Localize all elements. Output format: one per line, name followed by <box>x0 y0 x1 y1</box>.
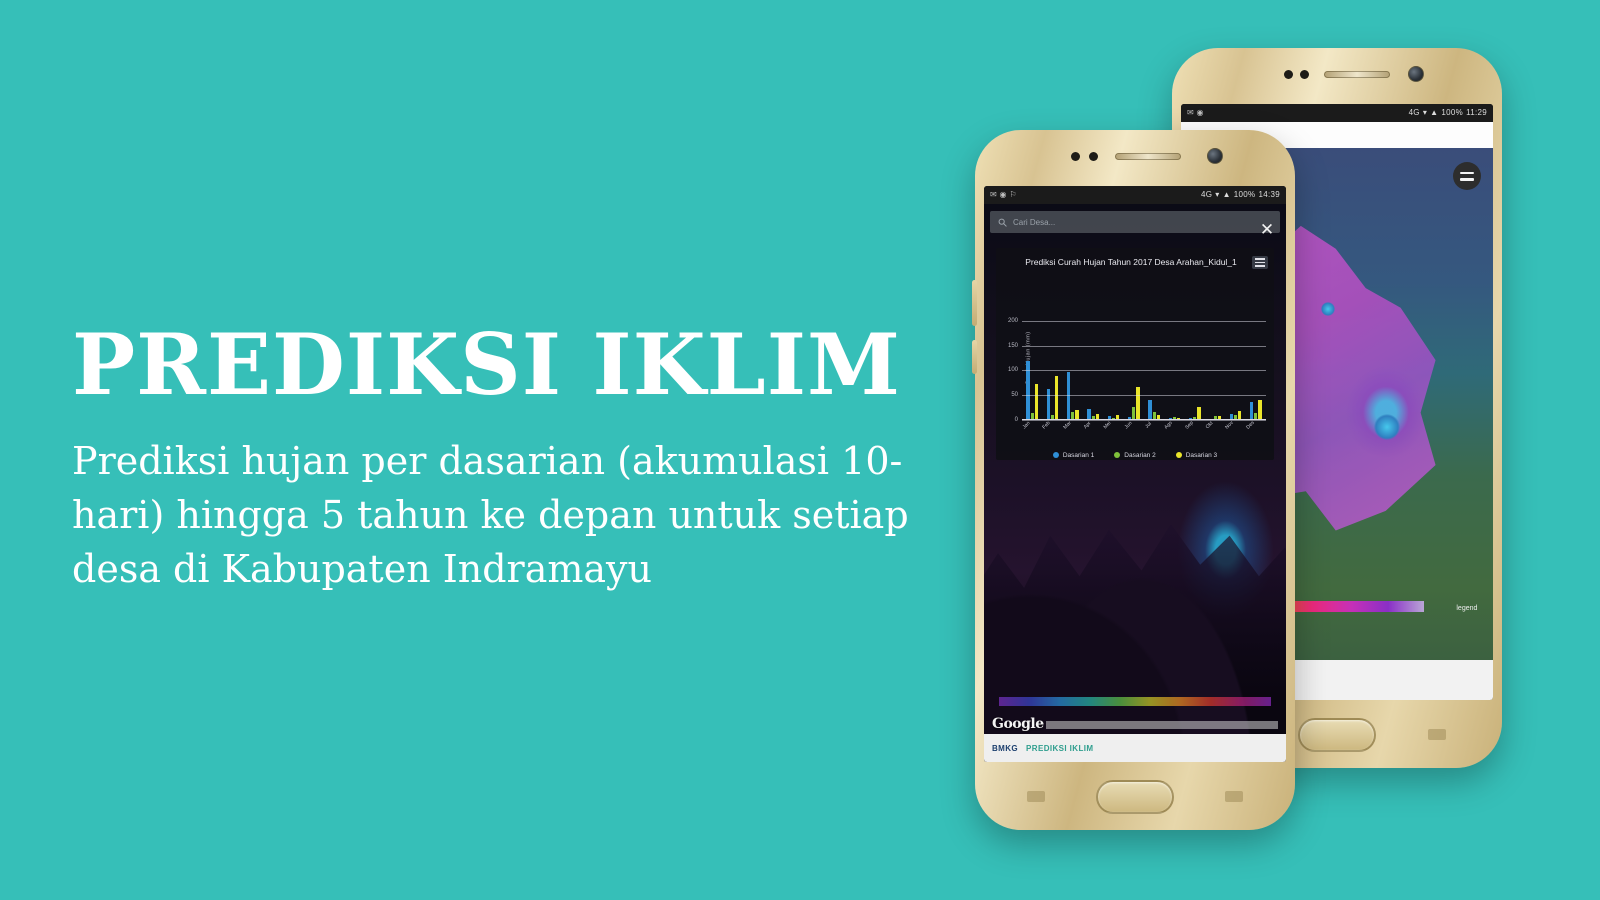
front-camera-icon <box>1207 148 1223 164</box>
chart-legend-swatch <box>1114 452 1120 458</box>
battery-level: 100% <box>1441 109 1463 117</box>
status-bar-front: ✉ ◉ ⚐ 4G ▾ ▲ 100% 14:39 <box>984 186 1286 204</box>
notification-icons: ✉ ◉ <box>1187 109 1204 117</box>
chart-legend-swatch <box>1053 452 1059 458</box>
chart-y-tick-label: 0 <box>1015 417 1018 423</box>
chart-legend-label: Dasarian 2 <box>1124 452 1155 459</box>
chart-gridline <box>1022 346 1266 347</box>
chart-bar-group <box>1225 296 1245 420</box>
chart-x-tick-label: Des <box>1241 416 1271 446</box>
wifi-icon: ▾ <box>1215 191 1219 199</box>
chart-bar-group <box>1042 296 1062 420</box>
rainfall-chart-panel: Prediksi Curah Hujan Tahun 2017 Desa Ara… <box>996 248 1274 460</box>
chart-bar-group <box>1022 296 1042 420</box>
chart-legend-item[interactable]: Dasarian 3 <box>1176 452 1217 459</box>
earpiece-speaker <box>1324 71 1390 78</box>
chart-y-tick-label: 100 <box>1008 367 1018 373</box>
chart-legend-swatch <box>1176 452 1182 458</box>
chart-bar-group <box>1246 296 1266 420</box>
chart-bar[interactable] <box>1258 400 1261 420</box>
chart-bar-group <box>1124 296 1144 420</box>
chart-gridline <box>1022 370 1266 371</box>
chart-context-menu-icon[interactable] <box>1252 256 1268 269</box>
proximity-sensor-icon <box>1071 152 1080 161</box>
status-bar-front-right: 4G ▾ ▲ 100% 14:39 <box>1201 191 1280 199</box>
search-icon <box>998 218 1007 227</box>
chart-bar-group <box>1144 296 1164 420</box>
network-icon: 4G <box>1409 109 1420 117</box>
chart-y-tick-label: 150 <box>1008 343 1018 349</box>
page-title: PREDIKSI IKLIM <box>72 325 952 405</box>
status-bar-front-left: ✉ ◉ ⚐ <box>990 191 1017 199</box>
hamburger-menu-icon[interactable] <box>1453 162 1481 190</box>
chart-bar[interactable] <box>1047 389 1050 420</box>
light-sensor-icon <box>1089 152 1098 161</box>
phone-front-screen: ✉ ◉ ⚐ 4G ▾ ▲ 100% 14:39 Google <box>984 186 1286 762</box>
chart-legend-item[interactable]: Dasarian 1 <box>1053 452 1094 459</box>
chart-gridline <box>1022 321 1266 322</box>
hotspot-marker-north[interactable] <box>1321 302 1335 316</box>
chart-bar-group <box>1083 296 1103 420</box>
map-color-legend <box>999 697 1271 706</box>
chart-legend-label: Dasarian 3 <box>1186 452 1217 459</box>
volume-button[interactable] <box>972 280 977 326</box>
app-bottom-bar: BMKG PREDIKSI IKLIM <box>984 734 1286 762</box>
earpiece-speaker <box>1115 153 1181 160</box>
promo-subtitle: Prediksi hujan per dasarian (akumulasi 1… <box>72 435 922 597</box>
chart-bar-group <box>1185 296 1205 420</box>
chart-legend: Dasarian 1Dasarian 2Dasarian 3 <box>996 448 1274 462</box>
status-bar-back: ✉ ◉ 4G ▾ ▲ 100% 11:29 <box>1181 104 1493 122</box>
light-sensor-icon <box>1300 70 1309 79</box>
chart-bar-group <box>1164 296 1184 420</box>
chart-bar[interactable] <box>1035 384 1038 420</box>
wifi-icon: ▾ <box>1423 109 1427 117</box>
phone-front-top-bezel <box>975 130 1295 186</box>
recents-key-icon[interactable] <box>1027 791 1045 802</box>
chart-bar-group <box>1205 296 1225 420</box>
promo-copy: PREDIKSI IKLIM Prediksi hujan per dasari… <box>72 325 952 597</box>
proximity-sensor-icon <box>1284 70 1293 79</box>
status-bar-back-left: ✉ ◉ <box>1187 109 1204 117</box>
back-key-icon[interactable] <box>1428 729 1446 740</box>
chart-bar[interactable] <box>1136 387 1139 420</box>
chart-plot-area: 050100150200 <box>1022 296 1266 420</box>
notification-icons: ✉ ◉ ⚐ <box>990 191 1017 199</box>
home-button[interactable] <box>1096 780 1174 814</box>
status-bar-back-right: 4G ▾ ▲ 100% 11:29 <box>1409 109 1487 117</box>
network-icon: 4G <box>1201 191 1212 199</box>
chart-bar-group <box>1063 296 1083 420</box>
promo-banner: PREDIKSI IKLIM Prediksi hujan per dasari… <box>0 0 1600 900</box>
map-color-legend-label: legend <box>1456 605 1477 612</box>
chart-legend-label: Dasarian 1 <box>1063 452 1094 459</box>
signal-icon: ▲ <box>1223 191 1231 199</box>
phone-front-bottom-bezel <box>975 762 1295 830</box>
phone-front-chart: ✉ ◉ ⚐ 4G ▾ ▲ 100% 14:39 Google <box>975 130 1295 830</box>
chart-bar-group <box>1103 296 1123 420</box>
power-button[interactable] <box>972 340 977 374</box>
back-key-icon[interactable] <box>1225 791 1243 802</box>
chart-y-tick-label: 200 <box>1008 318 1018 324</box>
chart-title: Prediksi Curah Hujan Tahun 2017 Desa Ara… <box>1002 256 1268 268</box>
map-attribution-bar <box>1046 721 1278 729</box>
chart-bars <box>1022 296 1266 420</box>
close-icon[interactable]: ✕ <box>1258 222 1276 240</box>
app-note-label: PREDIKSI IKLIM <box>1026 744 1093 753</box>
chart-legend-item[interactable]: Dasarian 2 <box>1114 452 1155 459</box>
chart-x-tick-labels: JanFebMarAprMeiJunJulAgsSepOktNovDes <box>1022 420 1266 442</box>
signal-icon: ▲ <box>1430 109 1438 117</box>
front-camera-icon <box>1408 66 1424 82</box>
google-watermark: Google <box>992 716 1044 732</box>
phone-back-top-bezel <box>1172 48 1502 104</box>
app-brand-label: BMKG <box>992 744 1018 753</box>
chart-y-tick-label: 50 <box>1011 392 1018 398</box>
clock: 14:39 <box>1258 191 1280 199</box>
chart-gridline <box>1022 395 1266 396</box>
chart-bar[interactable] <box>1055 376 1058 420</box>
battery-level: 100% <box>1234 191 1256 199</box>
clock: 11:29 <box>1466 109 1487 117</box>
home-button[interactable] <box>1298 718 1376 752</box>
search-input[interactable]: Cari Desa... <box>990 211 1280 233</box>
search-placeholder: Cari Desa... <box>1013 218 1055 227</box>
